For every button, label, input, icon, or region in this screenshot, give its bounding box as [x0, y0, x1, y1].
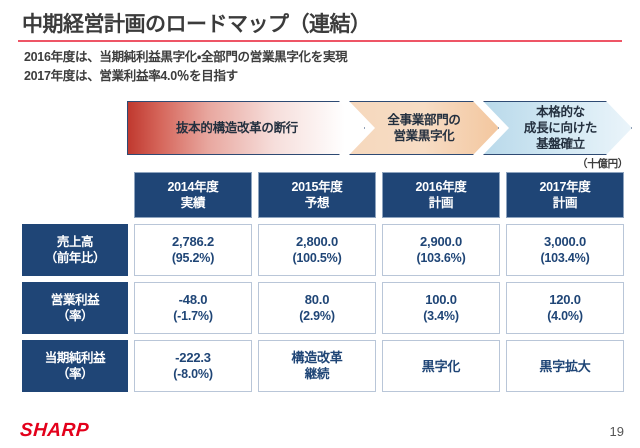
cell-operating-income-2017: 120.0 (4.0%)	[506, 282, 624, 334]
row-label-revenue: 売上高 （前年比）	[22, 224, 128, 276]
cell-net-income-2017: 黒字拡大	[506, 340, 624, 392]
row-label-revenue-line2: （前年比）	[45, 250, 106, 266]
table-header-col-1-kind: 予想	[305, 195, 329, 211]
table-row: 当期純利益 （率） -222.3 (-8.0%) 構造改革 継続 黒字化 黒字拡…	[22, 340, 624, 392]
cell-net-income-2015-main: 構造改革	[291, 349, 342, 366]
row-label-net-income-line1: 当期純利益	[45, 350, 106, 366]
subtitle-line-2: 2017年度は、営業利益率4.0％を目指す	[24, 67, 347, 86]
roadmap-phase-3-label-line2: 成長に向けた	[524, 120, 597, 136]
row-label-operating-income-line1: 営業利益	[51, 292, 99, 308]
cell-revenue-2017: 3,000.0 (103.4%)	[506, 224, 624, 276]
page-title: 中期経営計画のロードマップ（連結）	[22, 8, 371, 38]
header-corner-spacer	[22, 172, 128, 218]
cell-net-income-2017-main: 黒字拡大	[539, 358, 590, 375]
table-row: 売上高 （前年比） 2,786.2 (95.2%) 2,800.0 (100.5…	[22, 224, 624, 276]
cell-revenue-2014-sub: (95.2%)	[172, 250, 214, 267]
row-label-net-income-line2: （率）	[57, 366, 93, 382]
roadmap-phase-3-label-line1: 本格的な	[524, 104, 597, 120]
table-header-col-2: 2016年度 計画	[382, 172, 500, 218]
cell-net-income-2015: 構造改革 継続	[258, 340, 376, 392]
cell-revenue-2014-main: 2,786.2	[172, 233, 214, 250]
cell-net-income-2014-sub: (-8.0%)	[173, 366, 213, 383]
cell-net-income-2014-main: -222.3	[175, 349, 211, 366]
roadmap-phase-1: 抜本的構造改革の断行	[127, 101, 365, 155]
cell-operating-income-2016-main: 100.0	[425, 291, 457, 308]
table-header-col-1: 2015年度 予想	[258, 172, 376, 218]
table-header-col-2-year: 2016年度	[415, 179, 466, 195]
cell-revenue-2016: 2,900.0 (103.6%)	[382, 224, 500, 276]
row-label-revenue-line1: 売上高	[57, 234, 93, 250]
cell-operating-income-2014-main: -48.0	[179, 291, 208, 308]
roadmap-chevron-band: 抜本的構造改革の断行 全事業部門の 営業黒字化 本格的な 成長に向けた 基盤確立	[127, 101, 632, 155]
table-header-col-1-year: 2015年度	[291, 179, 342, 195]
table-header-col-3-year: 2017年度	[539, 179, 590, 195]
row-label-net-income: 当期純利益 （率）	[22, 340, 128, 392]
slide-root: 中期経営計画のロードマップ（連結） 2016年度は、当期純利益黒字化・全部門の営…	[0, 0, 640, 448]
table-header-row: 2014年度 実績 2015年度 予想 2016年度 計画 2017年度 計画	[22, 172, 624, 218]
cell-revenue-2016-sub: (103.6%)	[416, 250, 465, 267]
unit-note: （十億円）	[577, 156, 628, 171]
row-label-operating-income: 営業利益 （率）	[22, 282, 128, 334]
financial-table: 2014年度 実績 2015年度 予想 2016年度 計画 2017年度 計画 …	[22, 172, 624, 398]
cell-revenue-2015: 2,800.0 (100.5%)	[258, 224, 376, 276]
table-header-col-3: 2017年度 計画	[506, 172, 624, 218]
cell-operating-income-2015: 80.0 (2.9%)	[258, 282, 376, 334]
roadmap-phase-3-label-line3: 基盤確立	[524, 136, 597, 152]
table-header-col-0-year: 2014年度	[167, 179, 218, 195]
cell-operating-income-2015-sub: (2.9%)	[299, 308, 335, 325]
subtitle-block: 2016年度は、当期純利益黒字化・全部門の営業黒字化を実現 2017年度は、営業…	[24, 48, 347, 86]
cell-operating-income-2017-sub: (4.0%)	[547, 308, 583, 325]
subtitle-line-1: 2016年度は、当期純利益黒字化・全部門の営業黒字化を実現	[24, 48, 347, 67]
cell-revenue-2015-main: 2,800.0	[296, 233, 338, 250]
table-row: 営業利益 （率） -48.0 (-1.7%) 80.0 (2.9%) 100.0…	[22, 282, 624, 334]
cell-revenue-2017-main: 3,000.0	[544, 233, 586, 250]
title-divider	[18, 40, 622, 42]
cell-revenue-2014: 2,786.2 (95.2%)	[134, 224, 252, 276]
cell-operating-income-2014: -48.0 (-1.7%)	[134, 282, 252, 334]
table-header-col-3-kind: 計画	[553, 195, 577, 211]
cell-operating-income-2016: 100.0 (3.4%)	[382, 282, 500, 334]
roadmap-phase-2-label-line1: 全事業部門の	[387, 112, 460, 128]
cell-operating-income-2014-sub: (-1.7%)	[173, 308, 213, 325]
cell-revenue-2015-sub: (100.5%)	[292, 250, 341, 267]
cell-net-income-2014: -222.3 (-8.0%)	[134, 340, 252, 392]
table-header-col-0-kind: 実績	[181, 195, 205, 211]
roadmap-phase-3: 本格的な 成長に向けた 基盤確立	[483, 101, 632, 155]
roadmap-phase-1-label: 抜本的構造改革の断行	[176, 120, 298, 136]
cell-operating-income-2017-main: 120.0	[549, 291, 581, 308]
cell-operating-income-2016-sub: (3.4%)	[423, 308, 459, 325]
cell-revenue-2017-sub: (103.4%)	[540, 250, 589, 267]
table-header-col-0: 2014年度 実績	[134, 172, 252, 218]
sharp-logo: SHARP	[19, 420, 90, 442]
cell-operating-income-2015-main: 80.0	[305, 291, 330, 308]
table-header-col-2-kind: 計画	[429, 195, 453, 211]
row-label-operating-income-line2: （率）	[57, 308, 93, 324]
cell-net-income-2016: 黒字化	[382, 340, 500, 392]
roadmap-phase-2-label-line2: 営業黒字化	[387, 128, 460, 144]
cell-revenue-2016-main: 2,900.0	[420, 233, 462, 250]
roadmap-phase-2: 全事業部門の 営業黒字化	[349, 101, 499, 155]
cell-net-income-2016-main: 黒字化	[422, 358, 460, 375]
page-number: 19	[610, 424, 624, 439]
cell-net-income-2015-sub: 継続	[305, 366, 330, 383]
